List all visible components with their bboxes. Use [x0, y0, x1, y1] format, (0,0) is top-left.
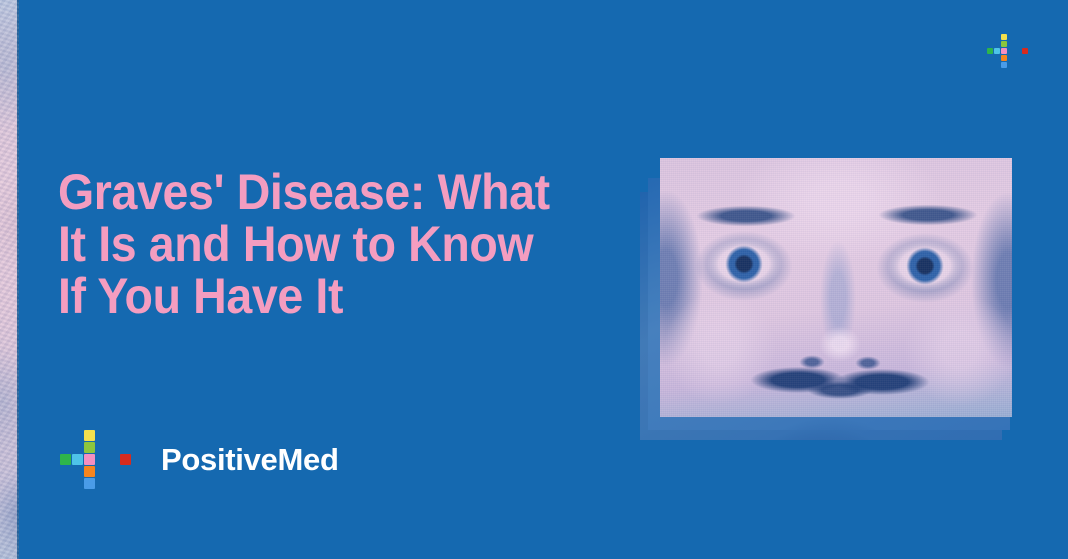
logo-square-blue: [1001, 62, 1007, 68]
logo-square-cyan: [994, 48, 1000, 54]
logo-square-orange: [1001, 55, 1007, 61]
logo-square-blue: [84, 478, 95, 489]
brand-lockup[interactable]: PositiveMed: [60, 430, 339, 489]
logo-square-green: [84, 442, 95, 453]
logo-square-pink: [84, 454, 95, 465]
logo-square-yellow: [84, 430, 95, 441]
positivemed-logo-icon: [987, 34, 1035, 68]
left-edge-texture-strip: [0, 0, 19, 559]
positivemed-logo-icon: [60, 430, 143, 489]
bulging-eyes-face-image: [660, 158, 1012, 417]
logo-square-red: [120, 454, 131, 465]
logo-square-green: [1001, 41, 1007, 47]
logo-square-yellow: [1001, 34, 1007, 40]
brand-wordmark: PositiveMed: [161, 444, 339, 475]
hero-photo-stack: [640, 158, 1012, 440]
logo-square-green-dark: [987, 48, 993, 54]
logo-square-green-dark: [60, 454, 71, 465]
page-title: Graves' Disease: What It Is and How to K…: [58, 166, 616, 322]
logo-mark-top-right[interactable]: [987, 34, 1035, 68]
logo-square-pink: [1001, 48, 1007, 54]
logo-square-red: [1022, 48, 1028, 54]
article-banner: Graves' Disease: What It Is and How to K…: [0, 0, 1068, 559]
logo-square-orange: [84, 466, 95, 477]
hero-photo-layer-front: [660, 158, 1012, 417]
logo-square-cyan: [72, 454, 83, 465]
